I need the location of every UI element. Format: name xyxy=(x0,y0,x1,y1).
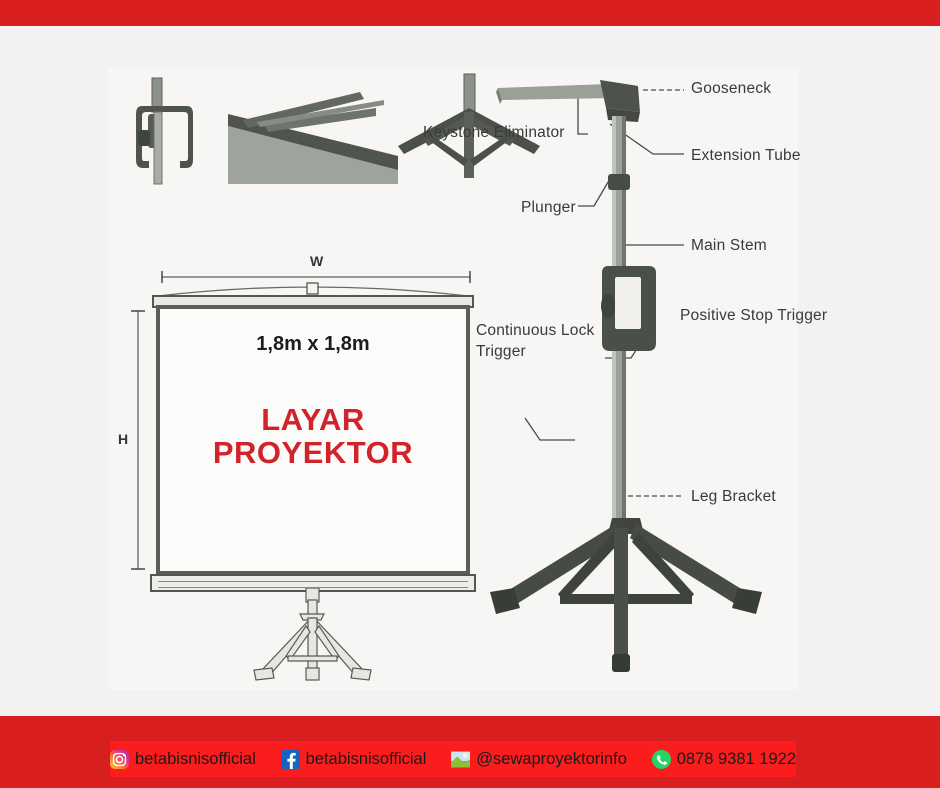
screen-title-line1: LAYAR xyxy=(160,404,466,437)
top-red-bar xyxy=(0,0,940,26)
footer-item-instagram[interactable]: betabisnisofficial xyxy=(110,741,256,777)
height-dimension xyxy=(130,309,146,571)
screen-title-line2: PROYEKTOR xyxy=(160,437,466,470)
instagram-icon xyxy=(110,750,129,769)
footer-facebook-handle: betabisnisofficial xyxy=(306,750,427,769)
plunger-part xyxy=(608,174,630,190)
photo-thumbnail-icon xyxy=(451,750,470,769)
leg-bracket-part xyxy=(490,518,762,672)
content-canvas: Keystone Eliminator Gooseneck Extension … xyxy=(0,26,940,716)
product-diagram: Keystone Eliminator Gooseneck Extension … xyxy=(108,68,798,690)
footer-photo-handle: @sewaproyektorinfo xyxy=(476,750,627,769)
footer-item-whatsapp[interactable]: 0878 9381 1922 xyxy=(652,741,796,777)
gooseneck-part xyxy=(496,80,640,122)
whatsapp-icon xyxy=(652,750,671,769)
projector-screen-assembly: W H 1,8m x 1,8m LAYAR PROYEKTOR xyxy=(118,263,488,683)
footer-whatsapp-number: 0878 9381 1922 xyxy=(677,750,796,769)
width-dimension-label: W xyxy=(310,253,323,269)
screen-title-text: LAYAR PROYEKTOR xyxy=(160,404,466,470)
footer-item-photo-handle[interactable]: @sewaproyektorinfo xyxy=(451,741,627,777)
tripod-stand-illustration xyxy=(488,78,788,678)
footer-contact-strip: betabisnisofficial betabisnisofficial @s… xyxy=(110,741,796,777)
screen-tripod xyxy=(238,588,388,683)
positive-stop-trigger-part xyxy=(601,266,656,351)
footer-item-facebook[interactable]: betabisnisofficial xyxy=(281,741,427,777)
facebook-icon xyxy=(281,750,300,769)
screen-surface: 1,8m x 1,8m LAYAR PROYEKTOR xyxy=(156,305,470,575)
screen-size-text: 1,8m x 1,8m xyxy=(160,333,466,356)
height-dimension-label: H xyxy=(118,431,128,447)
footer-instagram-handle: betabisnisofficial xyxy=(135,750,256,769)
